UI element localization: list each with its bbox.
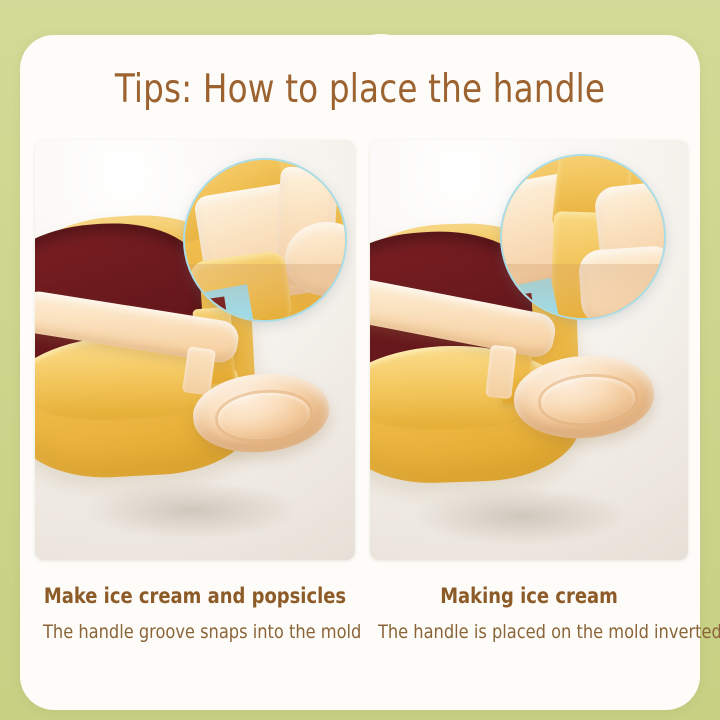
photo-left xyxy=(35,140,355,560)
infographic-root: Tips: How to place the handle xyxy=(0,0,720,720)
caption-sub-left: The handle groove snaps into the mold xyxy=(43,620,347,644)
photo-panel-right xyxy=(370,140,688,560)
photo-panel-left xyxy=(35,140,355,560)
caption-block-left: Make ice cream and popsicles The handle … xyxy=(35,583,355,644)
magnifier-shading xyxy=(185,264,345,320)
magnifier-shading xyxy=(502,264,664,318)
mold-contact-shadow xyxy=(370,476,670,556)
page-title: Tips: How to place the handle xyxy=(25,66,695,114)
handle-connector xyxy=(485,345,516,399)
caption-title-left: Make ice cream and popsicles xyxy=(43,583,347,609)
magnifier-inset-left xyxy=(183,158,347,322)
magnifier-inset-right xyxy=(500,154,666,320)
photo-right xyxy=(370,140,688,560)
caption-title-right: Making ice cream xyxy=(378,583,680,609)
caption-block-right: Making ice cream The handle is placed on… xyxy=(370,583,688,644)
caption-sub-right: The handle is placed on the mold inverte… xyxy=(378,620,680,644)
mold-contact-shadow xyxy=(41,470,341,550)
